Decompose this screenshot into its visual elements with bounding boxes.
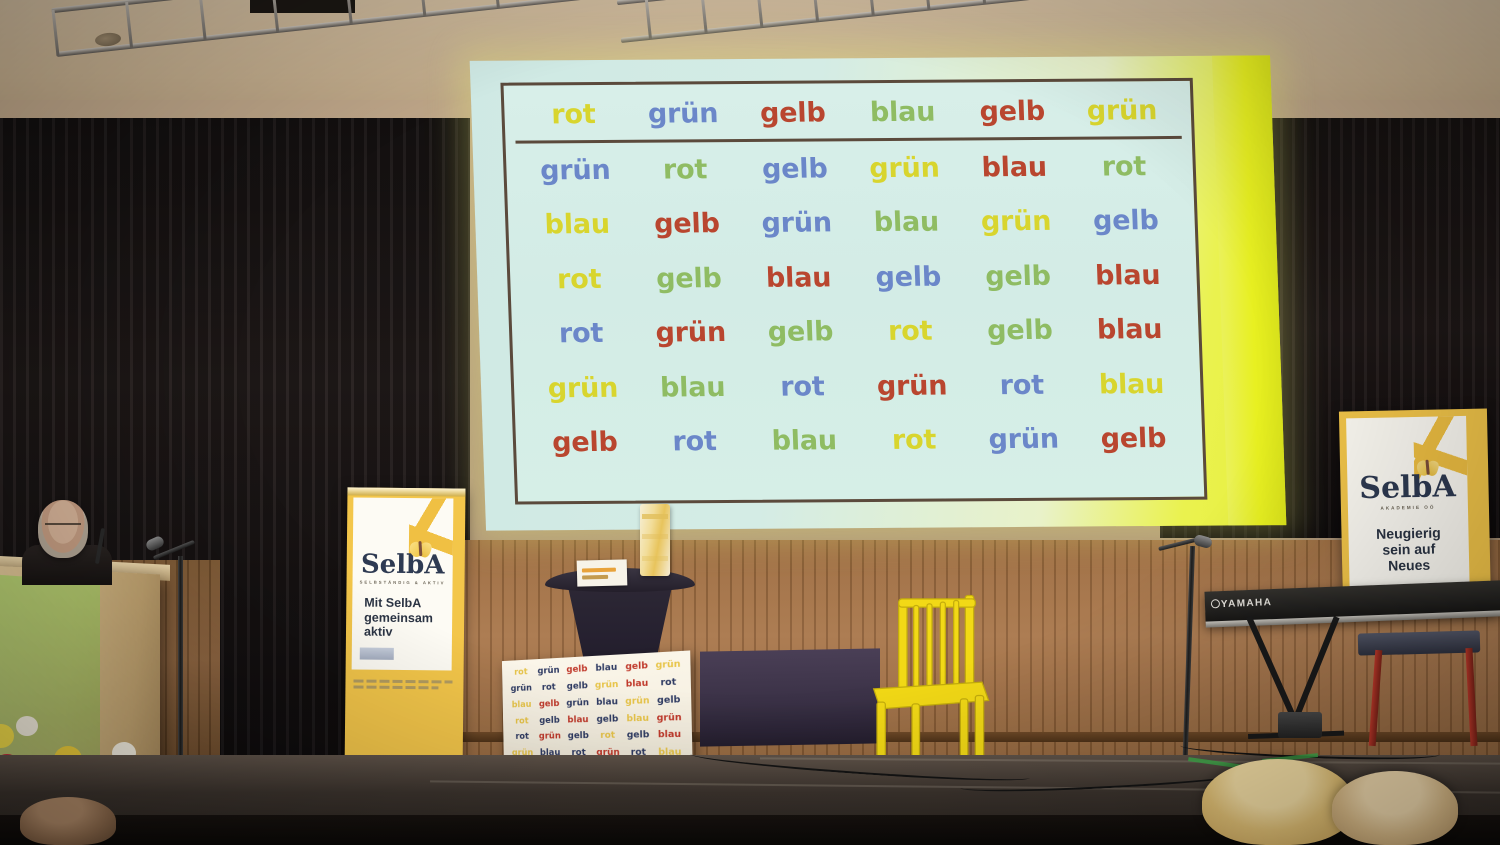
stroop-word: rot	[747, 371, 858, 403]
stroop-row: rotgrüngelbrotgelbblau	[521, 302, 1189, 361]
stroop-word: gelb	[965, 315, 1076, 347]
table-info-card[interactable]	[577, 559, 628, 586]
banner-left-fineprint	[353, 679, 452, 683]
stroop-row: rotgelbblaugelbgelbblau	[519, 248, 1187, 307]
stroop-word: gelb	[957, 96, 1068, 128]
banner-left-slogan-1: Mit SelbA	[364, 596, 452, 611]
poster-word: grün	[653, 712, 685, 723]
poster-word: grün	[536, 732, 564, 742]
poster-word: blau	[592, 697, 622, 708]
poster-word: gelb	[592, 714, 622, 725]
poster-word: gelb	[564, 731, 593, 741]
stroop-word: rot	[524, 264, 635, 296]
stroop-word: gelb	[1078, 423, 1189, 455]
butterfly-icon-right	[1417, 460, 1443, 480]
banner-top-rail	[347, 487, 465, 496]
keyboard-brand-label: YAMAHA	[1221, 597, 1273, 610]
poster-word: grün	[563, 698, 592, 709]
stroop-word: rot	[526, 318, 637, 350]
banner-selba-left[interactable]: SelbA SELBSTÄNDIG & AKTIV Mit SelbA geme…	[344, 487, 465, 778]
banner-left-face: SelbA SELBSTÄNDIG & AKTIV Mit SelbA geme…	[352, 497, 454, 670]
stroop-word: grün	[628, 98, 739, 130]
audio-mixer-box[interactable]	[1278, 712, 1322, 738]
poster-word: gelb	[535, 699, 563, 710]
projection-screen[interactable]: rotgrüngelbblaugelbgrüngrünrotgelbgrünbl…	[470, 55, 1287, 530]
poster-word: grün	[535, 666, 563, 677]
poster-word: blau	[563, 715, 592, 726]
stroop-word: rot	[1069, 151, 1180, 183]
stroop-row: blaugelbgrünblaugrüngelb	[517, 194, 1185, 253]
stroop-word: grün	[741, 208, 852, 240]
stroop-word: rot	[966, 369, 1077, 401]
stroop-word: gelb	[632, 208, 743, 240]
promo-tube[interactable]	[640, 504, 670, 576]
stroop-word: grün	[1067, 95, 1178, 127]
stroop-word: blau	[1074, 314, 1185, 346]
stroop-word: blau	[959, 152, 1070, 184]
poster-word: rot	[508, 716, 535, 726]
yellow-chair[interactable]	[862, 588, 1012, 778]
stroop-word: blau	[1072, 260, 1183, 292]
poster-word: rot	[507, 667, 534, 678]
stroop-word: rot	[639, 426, 750, 458]
stroop-word: grün	[857, 370, 968, 402]
banner-left-slogan-2: gemeinsam	[364, 610, 452, 625]
poster-word: grün	[592, 680, 622, 691]
poster-word: rot	[509, 732, 536, 742]
stroop-word: gelb	[1070, 205, 1181, 237]
poster-word: rot	[593, 731, 623, 741]
banner-left-logo-subtitle: SELBSTÄNDIG & AKTIV	[353, 579, 453, 585]
stroop-row: gelbrotblaurotgrüngelb	[525, 411, 1193, 470]
stroop-word: blau	[522, 209, 633, 241]
stroop-word: grün	[528, 372, 639, 404]
stroop-word: rot	[859, 424, 970, 456]
stroop-word: gelb	[739, 153, 850, 185]
stroop-word: gelb	[745, 316, 856, 348]
audience-head-blonde-2	[1332, 771, 1458, 845]
audience-head-front-left	[20, 797, 116, 845]
poster-word: rot	[535, 682, 563, 693]
audience-head-blonde-1	[1202, 759, 1354, 845]
microphone-stand-left[interactable]	[178, 556, 183, 782]
stroop-word: gelb	[737, 97, 848, 129]
stroop-word: blau	[1076, 368, 1187, 400]
poster-row: rotgrüngelbrotgelbblau	[507, 726, 688, 745]
stroop-word: blau	[637, 372, 748, 404]
poster-word: gelb	[621, 661, 652, 673]
poster-word: gelb	[563, 681, 592, 692]
stroop-word: blau	[749, 425, 860, 457]
banner-left-sponsor-logo	[360, 648, 394, 660]
stroop-word: grün	[635, 317, 746, 349]
poster-word: grün	[622, 696, 653, 707]
stroop-word: blau	[847, 97, 958, 129]
poster-word: blau	[591, 663, 621, 675]
stroop-word: gelb	[529, 427, 640, 459]
stage-photo-scene: rotgrüngelbblaugelbgrüngrünrotgelbgrünbl…	[0, 0, 1500, 845]
poster-word: grün	[508, 684, 535, 695]
poster-word: gelb	[653, 695, 685, 706]
stroop-word: grün	[961, 206, 1072, 238]
yamaha-tuning-fork-icon	[1211, 599, 1220, 608]
poster-word: rot	[652, 677, 684, 689]
stroop-word: grün	[849, 153, 960, 185]
banner-left-slogan-3: aktiv	[364, 625, 452, 640]
poster-word: blau	[508, 700, 535, 710]
banner-right-slogan-3: Neues	[1349, 556, 1469, 575]
stroop-row: grünrotgelbgrünblaurot	[516, 139, 1184, 198]
banner-right-logo: SelbA	[1347, 472, 1468, 505]
stroop-word: blau	[743, 262, 854, 294]
stroop-row: rotgrüngelbblaugelbgrün	[514, 85, 1182, 144]
stroop-word: gelb	[853, 261, 964, 293]
stroop-word: blau	[851, 207, 962, 239]
stroop-word-table: rotgrüngelbblaugelbgrüngrünrotgelbgrünbl…	[504, 81, 1205, 502]
poster-word: grün	[652, 660, 684, 672]
stroop-word: rot	[855, 316, 966, 348]
stroop-word: gelb	[963, 261, 1074, 293]
banner-left-logo: SelbA	[353, 551, 453, 578]
stroop-word: grün	[968, 424, 1079, 456]
stroop-word: gelb	[633, 263, 744, 295]
banner-right-face: SelbA AKADEMIE OÖ Neugierig sein auf Neu…	[1346, 416, 1470, 594]
stroop-word: grün	[520, 155, 631, 187]
speaker-glasses	[45, 523, 81, 531]
stroop-word: rot	[518, 99, 629, 131]
stroop-word: rot	[630, 154, 741, 186]
poster-word: blau	[622, 679, 653, 690]
poster-word: blau	[654, 730, 686, 741]
poster-word: gelb	[623, 730, 654, 741]
stroop-row: grünblaurotgrünrotblau	[523, 357, 1191, 416]
poster-word: gelb	[535, 715, 563, 725]
poster-word: blau	[622, 713, 653, 724]
banner-left-fineprint-2	[353, 685, 438, 689]
stage-equipment-case	[700, 648, 880, 746]
stroop-slide: rotgrüngelbblaugelbgrüngrünrotgelbgrünbl…	[500, 78, 1207, 505]
butterfly-icon	[410, 542, 432, 558]
poster-word: gelb	[562, 664, 591, 675]
